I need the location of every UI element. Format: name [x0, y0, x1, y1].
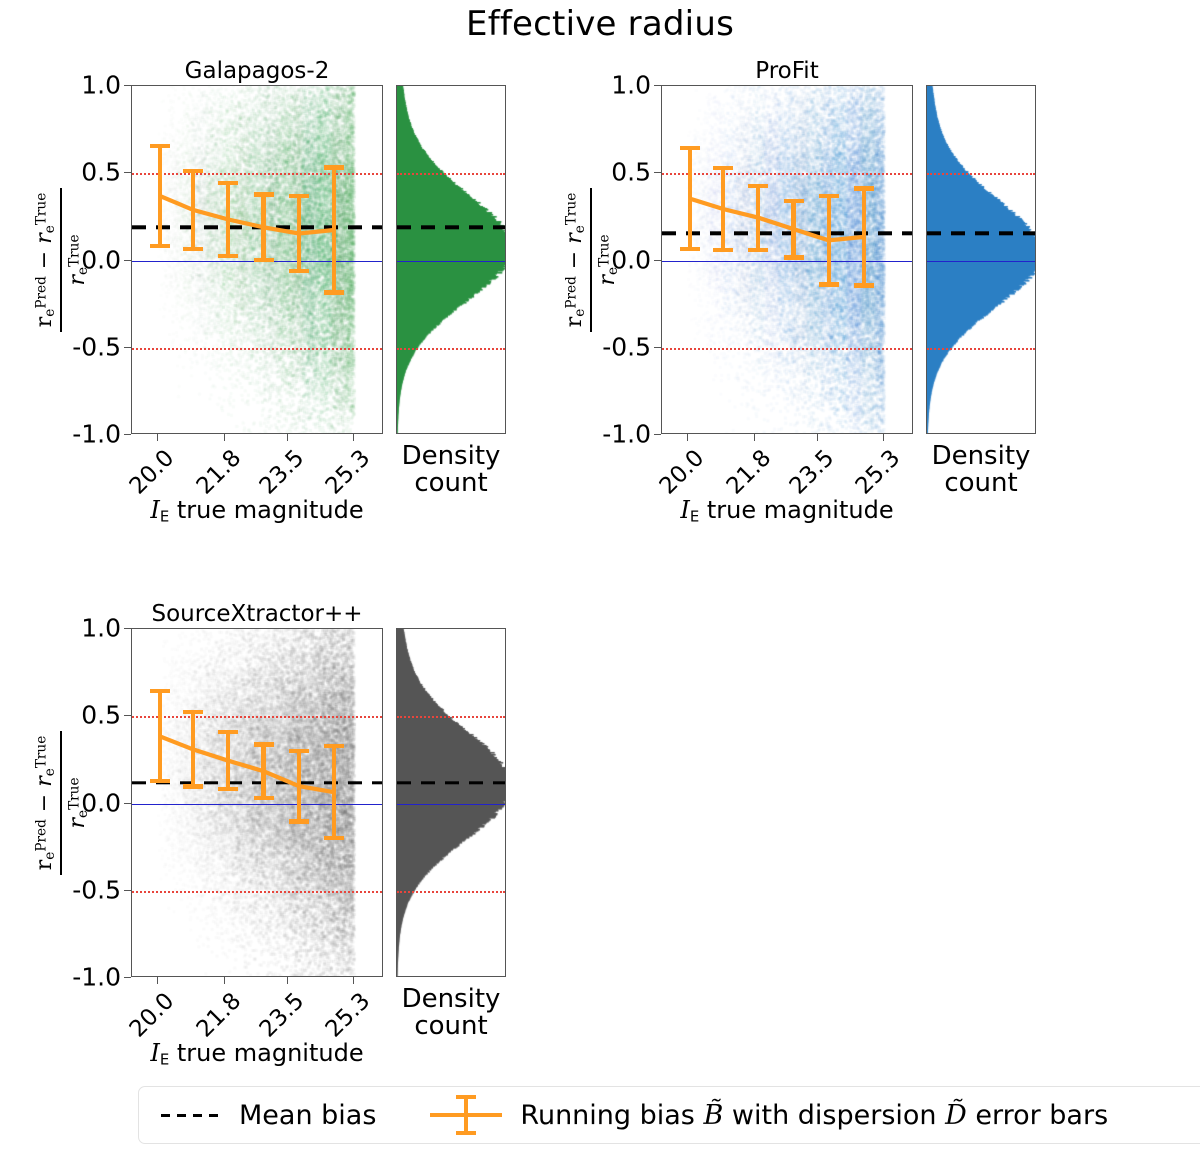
running-bias-symbol-b: B̃ [703, 1100, 723, 1131]
x-axis-label: IE true magnitude [101, 1039, 413, 1068]
y-axis-tick-mark [124, 890, 131, 891]
density-label-line1: Density [380, 986, 522, 1013]
running-bias-errorbar [287, 749, 311, 824]
panel-title: Galapagos-2 [131, 58, 383, 84]
running-bias-errorbar [711, 166, 735, 252]
y-axis-tick-label: 1.0 [585, 71, 651, 100]
running-bias-text-post: error bars [967, 1100, 1108, 1131]
density-axes [396, 628, 506, 977]
y-axis-tick-mark [124, 347, 131, 348]
y-axis-tick-mark [124, 628, 131, 629]
density-label-line1: Density [910, 443, 1052, 470]
legend-item-mean-bias: Mean bias [161, 1100, 376, 1131]
density-label-line2: count [910, 470, 1052, 497]
running-bias-errorbar [181, 710, 205, 789]
running-bias-text-mid: with dispersion [723, 1100, 945, 1131]
running-bias-errorbar [746, 184, 770, 252]
x-axis-tick-mark [157, 977, 158, 984]
mean-bias-line [927, 232, 1035, 235]
x-axis-tick-mark [224, 977, 225, 984]
y-axis-tick-label: 1.0 [55, 614, 121, 643]
density-axes [926, 85, 1036, 434]
y-axis-tick-mark [124, 434, 131, 435]
dispersion-lower-line [397, 891, 505, 893]
y-axis-tick-mark [124, 803, 131, 804]
running-bias-errorbar [782, 199, 806, 260]
scatter-axes [131, 85, 383, 434]
y-axis-tick-mark [654, 172, 661, 173]
running-bias-errorbar [287, 194, 311, 273]
x-axis-tick-mark [353, 977, 354, 984]
running-bias-errorbar [322, 744, 346, 840]
x-axis-tick-mark [287, 977, 288, 984]
running-bias-errorbar [216, 181, 240, 258]
x-axis-tick-mark [817, 434, 818, 441]
density-axis-label: Densitycount [380, 443, 522, 497]
panel-title: SourceXtractor++ [131, 601, 383, 627]
running-bias-errorbar [817, 194, 841, 286]
running-bias-errorbar [252, 192, 276, 262]
x-axis-tick-mark [353, 434, 354, 441]
density-axes [396, 85, 506, 434]
density-axis-label: Densitycount [910, 443, 1052, 497]
density-label-line2: count [380, 470, 522, 497]
legend-label-mean-bias: Mean bias [239, 1100, 376, 1131]
running-bias-errorbar [678, 146, 702, 251]
figure-root: Effective radius Galapagos-2 ProFit Sour… [0, 0, 1200, 1155]
y-axis-label: rePred − reTruereTrue [33, 653, 89, 953]
y-axis-tick-mark [124, 260, 131, 261]
y-axis-tick-mark [654, 434, 661, 435]
scatter-axes [131, 628, 383, 977]
panel-title: ProFit [661, 58, 913, 84]
running-bias-text-pre: Running bias [520, 1100, 703, 1131]
y-axis-tick-label: -1.0 [585, 420, 651, 449]
dispersion-upper-line [927, 173, 1035, 175]
dispersion-lower-line [397, 348, 505, 350]
x-axis-tick-mark [687, 434, 688, 441]
running-bias-errorbar [148, 144, 172, 249]
mean-bias-line [397, 781, 505, 784]
zero-reference-line [397, 261, 505, 262]
y-axis-label: rePred − reTruereTrue [563, 110, 619, 410]
y-axis-tick-label: 1.0 [55, 71, 121, 100]
running-bias-symbol-d: D̃ [945, 1100, 967, 1131]
dispersion-lower-line [927, 348, 1035, 350]
x-axis-tick-mark [224, 434, 225, 441]
running-bias-errorbar [322, 165, 346, 294]
x-axis-label: IE true magnitude [631, 496, 943, 525]
running-bias-errorbar [181, 169, 205, 251]
y-axis-tick-label: -1.0 [55, 963, 121, 992]
zero-reference-line [397, 804, 505, 805]
running-bias-errorbar [252, 742, 276, 800]
dispersion-upper-line [397, 173, 505, 175]
running-bias-errorbar [852, 186, 876, 287]
y-axis-tick-mark [124, 715, 131, 716]
x-axis-label: IE true magnitude [101, 496, 413, 525]
scatter-axes [661, 85, 913, 434]
x-axis-tick-mark [754, 434, 755, 441]
y-axis-tick-mark [124, 172, 131, 173]
running-bias-errorbar [148, 689, 172, 783]
y-axis-tick-mark [124, 85, 131, 86]
density-label-line2: count [380, 1013, 522, 1040]
zero-reference-line [927, 261, 1035, 262]
y-axis-label: rePred − reTruereTrue [33, 110, 89, 410]
x-axis-tick-mark [157, 434, 158, 441]
y-axis-tick-mark [654, 85, 661, 86]
figure-title: Effective radius [0, 4, 1200, 44]
legend-label-running-bias: Running bias B̃ with dispersion D̃ error… [520, 1100, 1108, 1131]
y-axis-tick-mark [654, 260, 661, 261]
density-axis-label: Densitycount [380, 986, 522, 1040]
x-axis-tick-mark [287, 434, 288, 441]
density-label-line1: Density [380, 443, 522, 470]
mean-bias-dash-icon [161, 1114, 223, 1117]
errorbar-icon [428, 1093, 504, 1137]
y-axis-tick-label: -1.0 [55, 420, 121, 449]
dispersion-upper-line [397, 716, 505, 718]
y-axis-tick-mark [124, 977, 131, 978]
legend-item-running-bias: Running bias B̃ with dispersion D̃ error… [428, 1093, 1108, 1137]
y-axis-tick-mark [654, 347, 661, 348]
mean-bias-line [397, 226, 505, 229]
running-bias-errorbar [216, 730, 240, 791]
legend: Mean bias Running bias B̃ with dispersio… [138, 1086, 1200, 1144]
x-axis-tick-mark [883, 434, 884, 441]
